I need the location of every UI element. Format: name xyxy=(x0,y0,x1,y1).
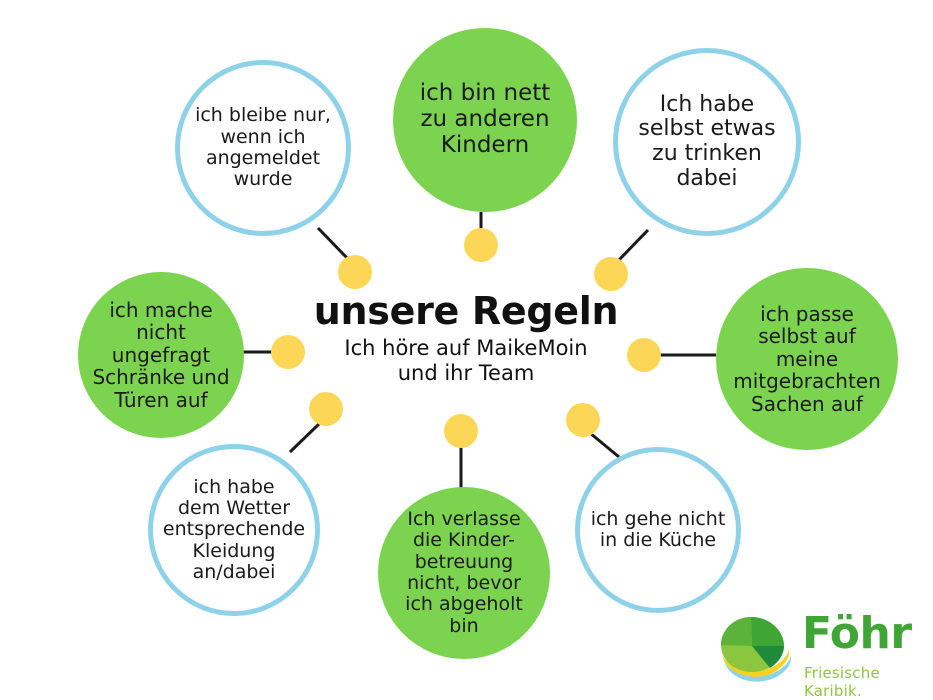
edge-wetterkleidung xyxy=(290,423,320,452)
bubble-schraenke-tueren[interactable]: ich mache nicht ungefragt Schränke und T… xyxy=(78,272,244,438)
bubble-label-kueche: ich gehe nicht in die Küche xyxy=(580,509,736,552)
bubble-abholung[interactable]: Ich verlasse die Kinder- betreuung nicht… xyxy=(378,487,550,659)
dot-anmeldung[interactable] xyxy=(338,255,372,289)
mindmap-canvas: unsere Regeln Ich höre auf MaikeMoin und… xyxy=(0,0,933,700)
logo-island-icon xyxy=(718,614,796,688)
page-title: unsere Regeln xyxy=(266,292,666,332)
bubble-nett-zu-kindern[interactable]: ich bin nett zu anderen Kindern xyxy=(393,28,577,212)
edge-trinken-dabei xyxy=(618,230,648,261)
bubble-label-wetterkleidung: ich habe dem Wetter entsprechende Kleidu… xyxy=(153,477,315,583)
edge-anmeldung xyxy=(318,228,349,260)
bubble-wetterkleidung[interactable]: ich habe dem Wetter entsprechende Kleidu… xyxy=(148,444,320,616)
bubble-kueche[interactable]: ich gehe nicht in die Küche xyxy=(575,447,741,613)
bubble-label-trinken-dabei: Ich habe selbst etwas zu trinken dabei xyxy=(618,93,796,192)
bubble-trinken-dabei[interactable]: Ich habe selbst etwas zu trinken dabei xyxy=(613,48,801,236)
bubble-label-schraenke-tueren: ich mache nicht ungefragt Schränke und T… xyxy=(78,299,244,411)
center-label: unsere Regeln Ich höre auf MaikeMoin und… xyxy=(266,292,666,385)
logo-tagline: Friesische Karibik. xyxy=(804,664,926,700)
dot-trinken-dabei[interactable] xyxy=(594,257,628,291)
dot-nett-zu-kindern[interactable] xyxy=(464,228,498,262)
dot-eigene-sachen[interactable] xyxy=(627,338,661,372)
bubble-eigene-sachen[interactable]: ich passe selbst auf meine mitgebrachten… xyxy=(716,268,898,450)
foehr-logo: Föhr Friesische Karibik. xyxy=(718,612,926,692)
bubble-label-eigene-sachen: ich passe selbst auf meine mitgebrachten… xyxy=(716,303,898,415)
logo-wordmark: Föhr xyxy=(802,612,912,656)
bubble-label-nett-zu-kindern: ich bin nett zu anderen Kindern xyxy=(393,81,577,158)
dot-schraenke-tueren[interactable] xyxy=(271,335,305,369)
edge-kueche xyxy=(590,433,619,457)
dot-wetterkleidung[interactable] xyxy=(309,392,343,426)
dot-kueche[interactable] xyxy=(566,403,600,437)
bubble-label-abholung: Ich verlasse die Kinder- betreuung nicht… xyxy=(378,509,550,637)
bubble-label-anmeldung: ich bleibe nur, wenn ich angemeldet wurd… xyxy=(180,105,346,190)
dot-abholung[interactable] xyxy=(444,414,478,448)
bubble-anmeldung[interactable]: ich bleibe nur, wenn ich angemeldet wurd… xyxy=(175,60,351,236)
center-subtitle: Ich höre auf MaikeMoin und ihr Team xyxy=(266,336,666,386)
